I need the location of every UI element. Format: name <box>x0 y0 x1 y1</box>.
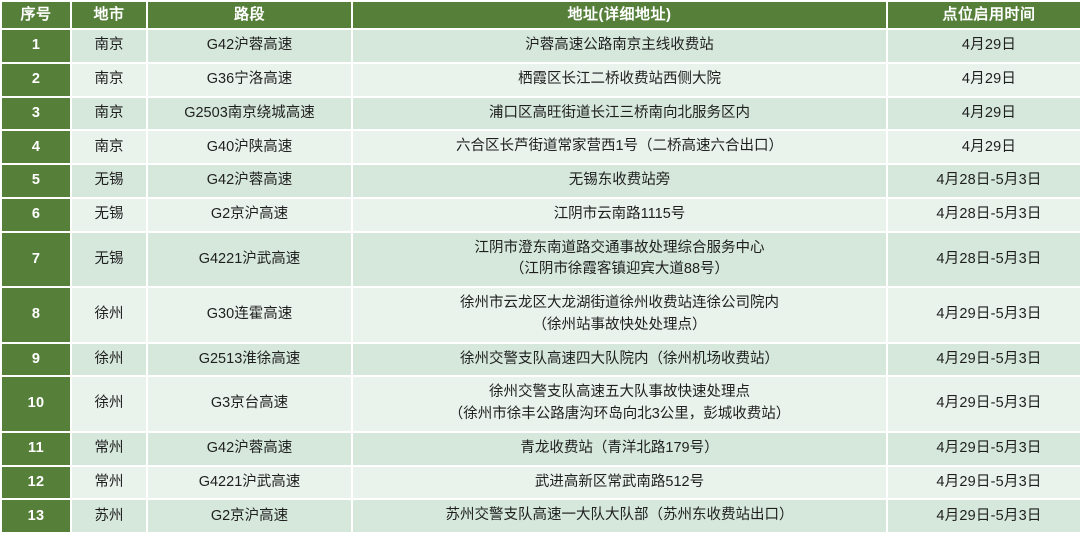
cell-index: 8 <box>2 288 70 342</box>
cell-road: G42沪蓉高速 <box>148 30 351 62</box>
cell-index: 13 <box>2 500 70 532</box>
cell-address-line: 徐州市云龙区大龙湖街道徐州收费站连徐公司院内 <box>359 293 880 315</box>
cell-city: 无锡 <box>72 165 146 197</box>
cell-road: G2513淮徐高速 <box>148 344 351 376</box>
cell-address: 徐州市云龙区大龙湖街道徐州收费站连徐公司院内（徐州站事故快处处理点） <box>353 288 886 342</box>
table-body: 1南京G42沪蓉高速沪蓉高速公路南京主线收费站4月29日2南京G36宁洛高速栖霞… <box>2 30 1080 532</box>
cell-address-line: 六合区长芦街道常家营西1号（二桥高速六合出口） <box>359 136 880 158</box>
cell-address: 江阴市澄东南道路交通事故处理综合服务中心（江阴市徐霞客镇迎宾大道88号） <box>353 233 886 287</box>
cell-activation-date: 4月28日-5月3日 <box>888 199 1080 231</box>
cell-address: 江阴市云南路1115号 <box>353 199 886 231</box>
column-header-address: 地址(详细地址) <box>353 2 886 28</box>
cell-road: G30连霍高速 <box>148 288 351 342</box>
cell-city: 南京 <box>72 64 146 96</box>
cell-address: 栖霞区长江二桥收费站西侧大院 <box>353 64 886 96</box>
cell-address: 武进高新区常武南路512号 <box>353 467 886 499</box>
cell-activation-date: 4月29日-5月3日 <box>888 377 1080 431</box>
cell-road: G42沪蓉高速 <box>148 165 351 197</box>
cell-city: 南京 <box>72 98 146 130</box>
cell-city: 徐州 <box>72 377 146 431</box>
table-row: 9徐州G2513淮徐高速徐州交警支队高速四大队院内（徐州机场收费站）4月29日-… <box>2 344 1080 376</box>
cell-road: G36宁洛高速 <box>148 64 351 96</box>
cell-road: G4221沪武高速 <box>148 467 351 499</box>
cell-city: 徐州 <box>72 344 146 376</box>
cell-activation-date: 4月29日 <box>888 64 1080 96</box>
cell-road: G42沪蓉高速 <box>148 433 351 465</box>
cell-address-line: 沪蓉高速公路南京主线收费站 <box>359 35 880 57</box>
cell-city: 苏州 <box>72 500 146 532</box>
cell-activation-date: 4月29日-5月3日 <box>888 288 1080 342</box>
table-row: 4南京G40沪陕高速六合区长芦街道常家营西1号（二桥高速六合出口）4月29日 <box>2 131 1080 163</box>
cell-activation-date: 4月28日-5月3日 <box>888 233 1080 287</box>
cell-activation-date: 4月29日-5月3日 <box>888 344 1080 376</box>
cell-address: 沪蓉高速公路南京主线收费站 <box>353 30 886 62</box>
cell-road: G2503南京绕城高速 <box>148 98 351 130</box>
cell-address-line: 江阴市云南路1115号 <box>359 204 880 226</box>
cell-address: 六合区长芦街道常家营西1号（二桥高速六合出口） <box>353 131 886 163</box>
cell-road: G2京沪高速 <box>148 199 351 231</box>
table-row: 6无锡G2京沪高速江阴市云南路1115号4月28日-5月3日 <box>2 199 1080 231</box>
cell-address-line: 徐州交警支队高速五大队事故快速处理点 <box>359 382 880 404</box>
table-row: 1南京G42沪蓉高速沪蓉高速公路南京主线收费站4月29日 <box>2 30 1080 62</box>
cell-address-line: 栖霞区长江二桥收费站西侧大院 <box>359 69 880 91</box>
cell-address: 徐州交警支队高速四大队院内（徐州机场收费站） <box>353 344 886 376</box>
cell-activation-date: 4月29日-5月3日 <box>888 433 1080 465</box>
cell-address-line: 浦口区高旺街道长江三桥南向北服务区内 <box>359 103 880 125</box>
cell-index: 11 <box>2 433 70 465</box>
cell-city: 南京 <box>72 30 146 62</box>
cell-address-line: （徐州站事故快处处理点） <box>359 315 880 337</box>
cell-index: 9 <box>2 344 70 376</box>
document-sheet: 序号 地市 路段 地址(详细地址) 点位启用时间 1南京G42沪蓉高速沪蓉高速公… <box>0 0 1080 542</box>
column-header-date: 点位启用时间 <box>888 2 1080 28</box>
table-row: 3南京G2503南京绕城高速浦口区高旺街道长江三桥南向北服务区内4月29日 <box>2 98 1080 130</box>
cell-address: 青龙收费站（青洋北路179号） <box>353 433 886 465</box>
table-row: 8徐州G30连霍高速徐州市云龙区大龙湖街道徐州收费站连徐公司院内（徐州站事故快处… <box>2 288 1080 342</box>
table-row: 13苏州G2京沪高速苏州交警支队高速一大队大队部（苏州东收费站出口）4月29日-… <box>2 500 1080 532</box>
column-header-index: 序号 <box>2 2 70 28</box>
cell-road: G4221沪武高速 <box>148 233 351 287</box>
cell-city: 无锡 <box>72 233 146 287</box>
table-row: 2南京G36宁洛高速栖霞区长江二桥收费站西侧大院4月29日 <box>2 64 1080 96</box>
cell-road: G40沪陕高速 <box>148 131 351 163</box>
cell-road: G3京台高速 <box>148 377 351 431</box>
cell-city: 常州 <box>72 433 146 465</box>
cell-city: 徐州 <box>72 288 146 342</box>
cell-index: 2 <box>2 64 70 96</box>
column-header-road: 路段 <box>148 2 351 28</box>
cell-address: 无锡东收费站旁 <box>353 165 886 197</box>
checkpoint-activation-table: 序号 地市 路段 地址(详细地址) 点位启用时间 1南京G42沪蓉高速沪蓉高速公… <box>0 0 1080 534</box>
cell-index: 10 <box>2 377 70 431</box>
cell-index: 4 <box>2 131 70 163</box>
table-row: 10徐州G3京台高速徐州交警支队高速五大队事故快速处理点（徐州市徐丰公路唐沟环岛… <box>2 377 1080 431</box>
column-header-city: 地市 <box>72 2 146 28</box>
cell-address: 徐州交警支队高速五大队事故快速处理点（徐州市徐丰公路唐沟环岛向北3公里，彭城收费… <box>353 377 886 431</box>
table-header-row: 序号 地市 路段 地址(详细地址) 点位启用时间 <box>2 2 1080 28</box>
cell-index: 6 <box>2 199 70 231</box>
cell-road: G2京沪高速 <box>148 500 351 532</box>
cell-address-line: （江阴市徐霞客镇迎宾大道88号） <box>359 259 880 281</box>
cell-city: 南京 <box>72 131 146 163</box>
table-row: 7无锡G4221沪武高速江阴市澄东南道路交通事故处理综合服务中心（江阴市徐霞客镇… <box>2 233 1080 287</box>
cell-city: 无锡 <box>72 199 146 231</box>
cell-address-line: 江阴市澄东南道路交通事故处理综合服务中心 <box>359 238 880 260</box>
cell-address: 苏州交警支队高速一大队大队部（苏州东收费站出口） <box>353 500 886 532</box>
cell-address-line: （徐州市徐丰公路唐沟环岛向北3公里，彭城收费站） <box>359 404 880 426</box>
cell-activation-date: 4月28日-5月3日 <box>888 165 1080 197</box>
cell-index: 5 <box>2 165 70 197</box>
table-row: 5无锡G42沪蓉高速无锡东收费站旁4月28日-5月3日 <box>2 165 1080 197</box>
cell-address-line: 青龙收费站（青洋北路179号） <box>359 438 880 460</box>
cell-activation-date: 4月29日-5月3日 <box>888 467 1080 499</box>
cell-address-line: 武进高新区常武南路512号 <box>359 472 880 494</box>
cell-index: 12 <box>2 467 70 499</box>
table-row: 11常州G42沪蓉高速青龙收费站（青洋北路179号）4月29日-5月3日 <box>2 433 1080 465</box>
cell-index: 7 <box>2 233 70 287</box>
cell-address-line: 无锡东收费站旁 <box>359 170 880 192</box>
table-row: 12常州G4221沪武高速武进高新区常武南路512号4月29日-5月3日 <box>2 467 1080 499</box>
cell-activation-date: 4月29日 <box>888 98 1080 130</box>
table-header: 序号 地市 路段 地址(详细地址) 点位启用时间 <box>2 2 1080 28</box>
cell-address-line: 徐州交警支队高速四大队院内（徐州机场收费站） <box>359 349 880 371</box>
cell-activation-date: 4月29日-5月3日 <box>888 500 1080 532</box>
cell-address: 浦口区高旺街道长江三桥南向北服务区内 <box>353 98 886 130</box>
cell-index: 1 <box>2 30 70 62</box>
cell-address-line: 苏州交警支队高速一大队大队部（苏州东收费站出口） <box>359 505 880 527</box>
cell-activation-date: 4月29日 <box>888 131 1080 163</box>
cell-activation-date: 4月29日 <box>888 30 1080 62</box>
cell-index: 3 <box>2 98 70 130</box>
cell-city: 常州 <box>72 467 146 499</box>
